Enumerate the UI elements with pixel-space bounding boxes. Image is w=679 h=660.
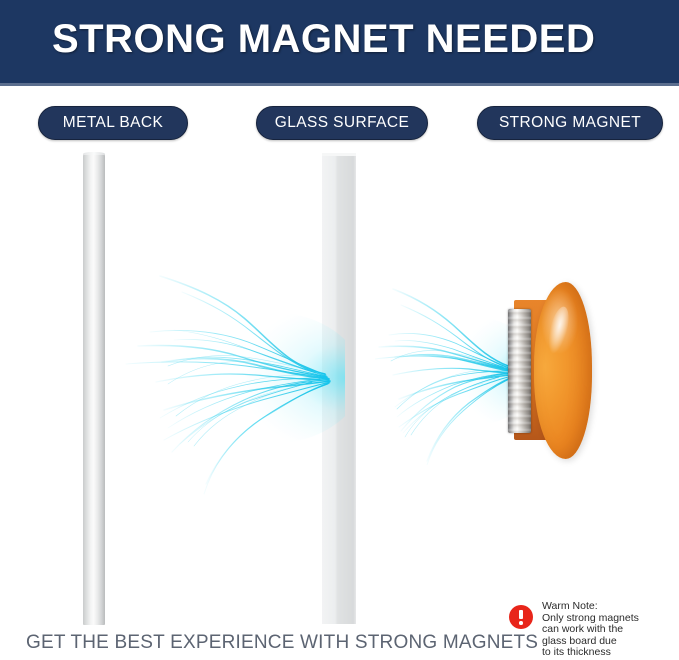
- label-pill-metal-back: METAL BACK: [38, 106, 188, 140]
- warm-note: Warm Note: Only strong magnets can work …: [509, 601, 679, 659]
- infographic-canvas: STRONG MAGNET NEEDED METAL BACK GLASS SU…: [0, 0, 679, 660]
- magnet-disc-banding: [508, 309, 531, 433]
- exclamation-circle-icon: [509, 605, 533, 629]
- label-pill-glass-surface-text: GLASS SURFACE: [275, 114, 409, 132]
- label-pill-strong-magnet-text: STRONG MAGNET: [499, 114, 641, 132]
- strong-magnet-object: [500, 278, 600, 463]
- label-pill-metal-back-text: METAL BACK: [63, 114, 163, 132]
- bottom-caption: GET THE BEST EXPERIENCE WITH STRONG MAGN…: [26, 632, 538, 654]
- page-title: STRONG MAGNET NEEDED: [52, 17, 595, 62]
- label-pill-glass-surface: GLASS SURFACE: [256, 106, 428, 140]
- warm-note-title: Warm Note:: [542, 601, 639, 613]
- magnetic-field-left: [120, 270, 345, 495]
- header-underline: [0, 83, 679, 86]
- metal-back-bar: [83, 155, 105, 625]
- warm-note-text: Warm Note: Only strong magnets can work …: [542, 601, 639, 659]
- warm-note-line-4: to its thickness: [542, 647, 639, 659]
- magnet-metal-disc: [508, 309, 531, 433]
- label-pill-strong-magnet: STRONG MAGNET: [477, 106, 663, 140]
